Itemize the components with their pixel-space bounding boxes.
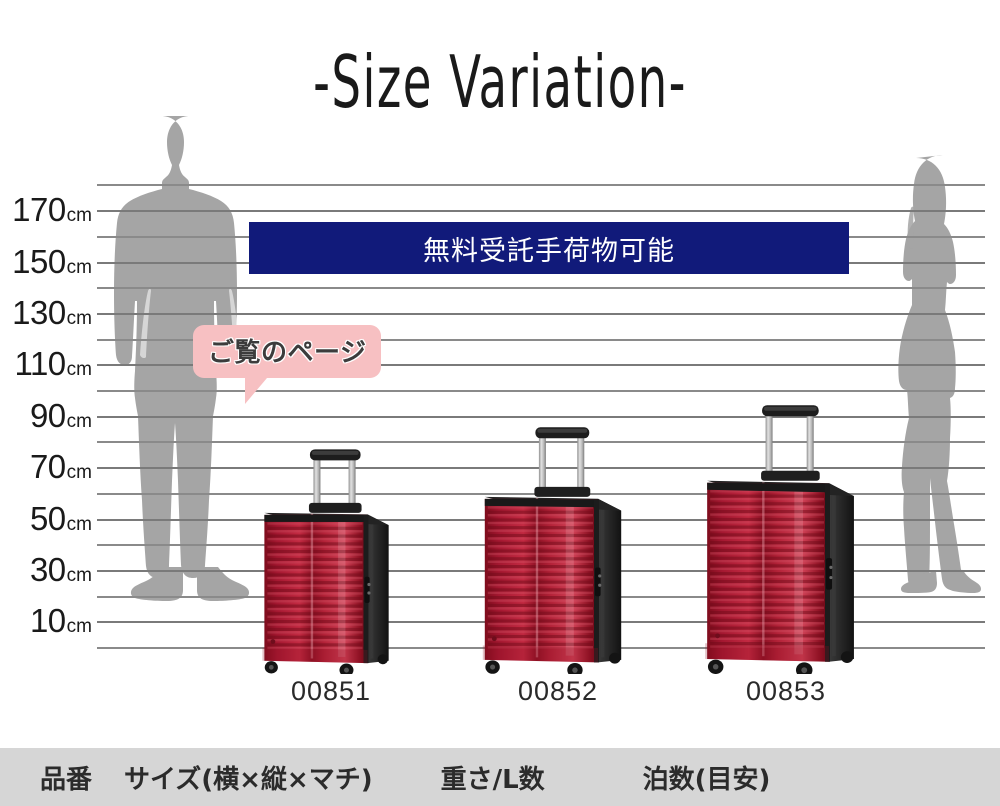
gridline-180cm — [97, 184, 985, 186]
axis-tick-90cm: 90cm — [30, 399, 92, 432]
gridline-130cm — [97, 313, 985, 315]
axis-tick-unit: cm — [67, 308, 92, 329]
female-silhouette — [885, 152, 997, 602]
table-column-weight: 重さ/L数 — [441, 759, 545, 796]
size-variation-infographic: -Size Variation- 170cm150cm130cm110cm90c… — [0, 0, 1000, 806]
axis-tick-unit: cm — [67, 565, 92, 586]
size-chart: 170cm150cm130cm110cm90cm70cm50cm30cm10cm — [0, 0, 1000, 748]
gridline-170cm — [97, 210, 985, 212]
spec-table-header: 品番 サイズ(横×縦×マチ) 重さ/L数 泊数(目安) — [0, 748, 1000, 806]
axis-tick-110cm: 110cm — [15, 347, 92, 380]
axis-tick-150cm: 150cm — [12, 245, 92, 278]
axis-tick-10cm: 10cm — [30, 604, 92, 637]
axis-tick-unit: cm — [67, 205, 92, 226]
suitcase-00853[interactable] — [700, 394, 872, 674]
axis-tick-value: 150 — [12, 243, 66, 280]
axis-tick-unit: cm — [67, 257, 92, 278]
axis-tick-170cm: 170cm — [12, 193, 92, 226]
axis-tick-value: 90 — [30, 397, 66, 434]
callout-bubble: ご覧のページ — [193, 325, 381, 378]
banner-text: 無料受託手荷物可能 — [423, 229, 675, 268]
axis-tick-value: 30 — [30, 551, 66, 588]
table-column-model: 品番 — [40, 759, 92, 796]
axis-tick-value: 10 — [30, 602, 66, 639]
table-column-size: サイズ(横×縦×マチ) — [124, 759, 373, 796]
callout-tail-icon — [245, 378, 267, 404]
axis-tick-value: 130 — [12, 294, 66, 331]
axis-tick-unit: cm — [67, 462, 92, 483]
gridline-100cm — [97, 390, 985, 392]
axis-tick-value: 170 — [12, 191, 66, 228]
model-label-00851: 00851 — [238, 676, 424, 707]
table-column-nights: 泊数(目安) — [643, 759, 771, 796]
axis-tick-130cm: 130cm — [12, 296, 92, 329]
axis-tick-value: 110 — [15, 345, 66, 382]
axis-tick-unit: cm — [67, 359, 92, 380]
suitcase-00851[interactable] — [258, 440, 404, 674]
model-label-00852: 00852 — [458, 676, 658, 707]
axis-tick-value: 50 — [30, 500, 66, 537]
axis-tick-value: 70 — [30, 448, 66, 485]
gridline-140cm — [97, 287, 985, 289]
current-page-callout: ご覧のページ — [193, 325, 381, 378]
axis-tick-70cm: 70cm — [30, 450, 92, 483]
model-label-00853: 00853 — [680, 676, 892, 707]
axis-tick-unit: cm — [67, 514, 92, 535]
suitcase-00852[interactable] — [478, 417, 638, 674]
axis-tick-unit: cm — [67, 616, 92, 637]
free-checked-baggage-banner: 無料受託手荷物可能 — [249, 222, 849, 274]
axis-tick-50cm: 50cm — [30, 502, 92, 535]
callout-text: ご覧のページ — [208, 338, 366, 368]
axis-tick-unit: cm — [67, 411, 92, 432]
axis-tick-30cm: 30cm — [30, 553, 92, 586]
